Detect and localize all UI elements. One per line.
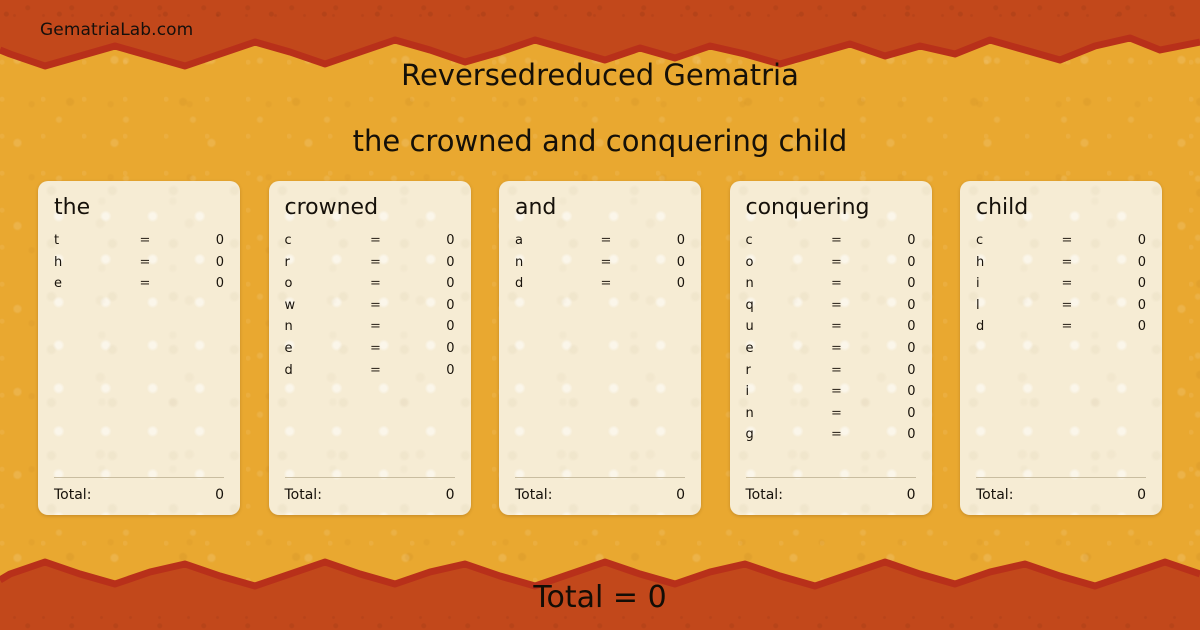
letter-value: 0 [1080,319,1146,334]
word-total-value: 0 [91,487,224,503]
letter-label: n [746,276,824,291]
letter-value-row: c=0 [285,233,455,255]
equals-sign: = [824,363,850,378]
letter-value-row: n=0 [746,406,916,428]
letter-label: u [746,319,824,334]
letter-value: 0 [1080,233,1146,248]
letter-value-row: l=0 [976,298,1146,320]
letter-value-row: n=0 [285,319,455,341]
equals-sign: = [1054,319,1080,334]
letter-value: 0 [389,298,455,313]
letter-value-list: t=0h=0e=0 [54,233,224,477]
cipher-title: Reversedreduced Gematria [0,58,1200,92]
word-card: childc=0h=0i=0l=0d=0Total:0 [960,181,1162,515]
word-card-title: and [515,195,685,221]
letter-value: 0 [850,406,916,421]
letter-value: 0 [158,276,224,291]
letter-label: n [285,319,363,334]
equals-sign: = [363,233,389,248]
letter-label: w [285,298,363,313]
word-total-row: Total:0 [976,487,1146,503]
equals-sign: = [363,276,389,291]
word-total-value: 0 [1013,487,1146,503]
letter-label: d [285,363,363,378]
letter-value-list: c=0h=0i=0l=0d=0 [976,233,1146,477]
site-logo[interactable]: GematriaLab.com [40,20,193,40]
letter-value-row: h=0 [976,255,1146,277]
letter-value: 0 [850,255,916,270]
word-total-label: Total: [285,487,322,503]
letter-label: r [746,363,824,378]
equals-sign: = [1054,255,1080,270]
letter-value-row: e=0 [746,341,916,363]
grand-total: Total = 0 [0,580,1200,616]
letter-value-row: q=0 [746,298,916,320]
letter-value-row: o=0 [285,276,455,298]
equals-sign: = [1054,276,1080,291]
equals-sign: = [593,233,619,248]
letter-label: l [976,298,1054,313]
word-card-title: child [976,195,1146,221]
letter-label: n [746,406,824,421]
letter-label: e [746,341,824,356]
letter-value: 0 [619,233,685,248]
letter-label: h [976,255,1054,270]
letter-label: d [515,276,593,291]
word-total-row: Total:0 [285,487,455,503]
word-card-title: the [54,195,224,221]
letter-label: c [976,233,1054,248]
equals-sign: = [132,276,158,291]
letter-value-row: d=0 [285,363,455,385]
word-total-label: Total: [515,487,552,503]
equals-sign: = [132,255,158,270]
letter-value: 0 [389,276,455,291]
letter-value-row: u=0 [746,319,916,341]
word-total-row: Total:0 [54,487,224,503]
letter-value-list: c=0o=0n=0q=0u=0e=0r=0i=0n=0g=0 [746,233,916,477]
letter-value: 0 [850,427,916,442]
card-divider [976,477,1146,478]
letter-label: a [515,233,593,248]
letter-value: 0 [619,276,685,291]
word-total-value: 0 [783,487,916,503]
letter-value-row: w=0 [285,298,455,320]
word-card-title: crowned [285,195,455,221]
equals-sign: = [593,255,619,270]
letter-value: 0 [389,255,455,270]
equals-sign: = [363,255,389,270]
letter-value: 0 [850,233,916,248]
letter-value: 0 [619,255,685,270]
letter-label: g [746,427,824,442]
letter-value-row: e=0 [285,341,455,363]
letter-value-row: a=0 [515,233,685,255]
letter-value-list: a=0n=0d=0 [515,233,685,477]
letter-value-row: i=0 [976,276,1146,298]
word-total-label: Total: [976,487,1013,503]
letter-value-row: e=0 [54,276,224,298]
letter-label: d [976,319,1054,334]
word-card: crownedc=0r=0o=0w=0n=0e=0d=0Total:0 [269,181,471,515]
word-total-value: 0 [322,487,455,503]
letter-value: 0 [389,233,455,248]
word-card-title: conquering [746,195,916,221]
equals-sign: = [824,319,850,334]
gematria-result-image: GematriaLab.com Reversedreduced Gematria… [0,0,1200,630]
equals-sign: = [824,427,850,442]
letter-value-row: r=0 [746,363,916,385]
letter-value-row: h=0 [54,255,224,277]
word-total-value: 0 [552,487,685,503]
equals-sign: = [1054,233,1080,248]
equals-sign: = [363,319,389,334]
equals-sign: = [824,298,850,313]
equals-sign: = [824,233,850,248]
letter-value-row: c=0 [976,233,1146,255]
card-divider [285,477,455,478]
equals-sign: = [1054,298,1080,313]
letter-label: i [976,276,1054,291]
card-divider [746,477,916,478]
equals-sign: = [363,298,389,313]
letter-value-row: t=0 [54,233,224,255]
card-divider [515,477,685,478]
letter-value: 0 [850,341,916,356]
word-card: conqueringc=0o=0n=0q=0u=0e=0r=0i=0n=0g=0… [730,181,932,515]
letter-value: 0 [158,255,224,270]
header: Reversedreduced Gematria the crowned and… [0,58,1200,158]
letter-value-row: c=0 [746,233,916,255]
letter-label: e [285,341,363,356]
letter-value-row: o=0 [746,255,916,277]
letter-value: 0 [850,276,916,291]
word-total-label: Total: [746,487,783,503]
letter-label: o [285,276,363,291]
letter-label: o [746,255,824,270]
phrase-title: the crowned and conquering child [0,92,1200,158]
word-total-label: Total: [54,487,91,503]
equals-sign: = [363,363,389,378]
letter-label: t [54,233,132,248]
letter-label: n [515,255,593,270]
equals-sign: = [824,384,850,399]
letter-value: 0 [1080,255,1146,270]
letter-label: c [285,233,363,248]
letter-value: 0 [850,298,916,313]
word-card: anda=0n=0d=0Total:0 [499,181,701,515]
word-cards-row: thet=0h=0e=0Total:0crownedc=0r=0o=0w=0n=… [38,181,1162,515]
equals-sign: = [824,276,850,291]
letter-label: c [746,233,824,248]
letter-label: q [746,298,824,313]
letter-value-row: d=0 [976,319,1146,341]
letter-value: 0 [850,319,916,334]
letter-label: r [285,255,363,270]
equals-sign: = [824,406,850,421]
letter-value: 0 [1080,298,1146,313]
letter-value-row: n=0 [515,255,685,277]
equals-sign: = [824,341,850,356]
letter-label: i [746,384,824,399]
equals-sign: = [593,276,619,291]
letter-label: h [54,255,132,270]
letter-value-row: r=0 [285,255,455,277]
letter-value: 0 [850,363,916,378]
letter-value: 0 [158,233,224,248]
word-card: thet=0h=0e=0Total:0 [38,181,240,515]
letter-label: e [54,276,132,291]
equals-sign: = [824,255,850,270]
letter-value: 0 [1080,276,1146,291]
letter-value: 0 [389,341,455,356]
letter-value-list: c=0r=0o=0w=0n=0e=0d=0 [285,233,455,477]
word-total-row: Total:0 [746,487,916,503]
equals-sign: = [363,341,389,356]
equals-sign: = [132,233,158,248]
word-total-row: Total:0 [515,487,685,503]
letter-value-row: g=0 [746,427,916,449]
card-divider [54,477,224,478]
letter-value-row: n=0 [746,276,916,298]
letter-value-row: i=0 [746,384,916,406]
letter-value-row: d=0 [515,276,685,298]
letter-value: 0 [389,319,455,334]
letter-value: 0 [850,384,916,399]
letter-value: 0 [389,363,455,378]
